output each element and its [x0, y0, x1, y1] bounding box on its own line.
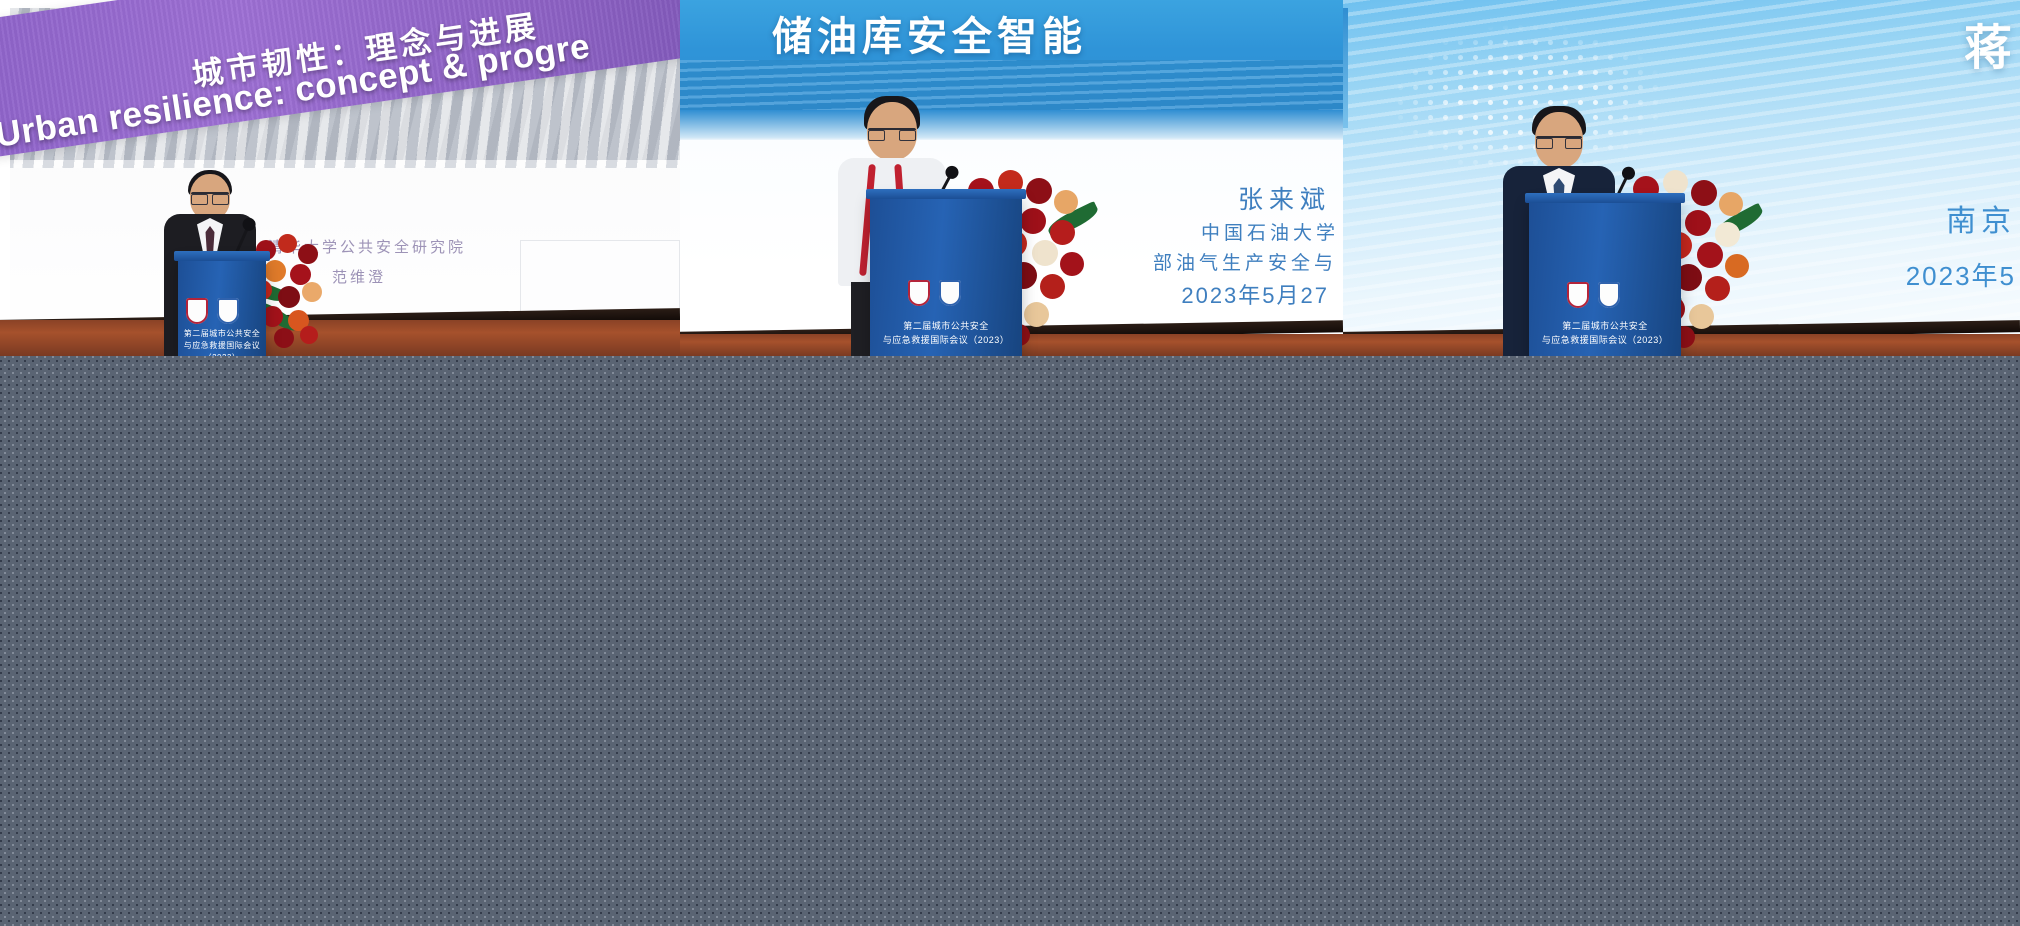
slide-band-fade-2: [680, 110, 1343, 140]
podium-emblem-red-1: [186, 298, 208, 324]
slide-date-3: 2023年5: [1906, 256, 2016, 293]
slide-left-accent-bar-3: [1343, 8, 1348, 128]
podium-line2-2: 与应急救援国际会议（2023）: [870, 334, 1022, 348]
podium-line1-2: 第二届城市公共安全: [870, 320, 1022, 334]
podium-1: 第二届城市公共安全 与应急救援国际会议（2023）: [178, 258, 266, 356]
podium-emblem-red-3: [1567, 282, 1589, 308]
photo-panel-3[interactable]: 蒋 南京 2023年5: [1343, 0, 2020, 356]
presentation-screen-1: 清華大學 Institute of Public Safety Research…: [10, 8, 680, 356]
podium-line2-3: 与应急救援国际会议（2023）: [1529, 334, 1681, 348]
podium-3: 第二届城市公共安全 与应急救援国际会议（2023）: [1529, 200, 1681, 356]
podium-emblem-red-2: [908, 280, 930, 306]
photo-panel-1[interactable]: 清華大學 Institute of Public Safety Research…: [0, 0, 680, 356]
slide-org-line1-2: 中国石油大学: [1201, 218, 1339, 245]
podium-emblem-blue-3: [1598, 282, 1620, 308]
slide-title-cn-2: 储油库安全智能: [772, 4, 1087, 62]
slide-speaker-2: 张来斌: [1238, 180, 1331, 216]
slide-speaker-3: 蒋: [1964, 8, 2012, 78]
stage-floor-1: [0, 320, 680, 356]
podium-2: 第二届城市公共安全 与应急救援国际会议（2023）: [870, 196, 1022, 356]
podium-line1-1: 第二届城市公共安全: [178, 328, 266, 340]
photo-panel-2[interactable]: 储油库安全智能 张来斌 中国石油大学 部油气生产安全与 2023年5月27: [680, 0, 1343, 356]
slide-org-3: 南京: [1946, 196, 2016, 240]
slide-org-line2-2: 部油气生产安全与: [1153, 248, 1337, 275]
podium-line1-3: 第二届城市公共安全: [1529, 320, 1681, 334]
podium-line2-1: 与应急救援国际会议（2023）: [178, 340, 266, 356]
slide-date-2: 2023年5月27: [1181, 278, 1329, 310]
photo-gallery-strip: 清華大學 Institute of Public Safety Research…: [0, 0, 2020, 356]
page-background-area: [0, 356, 2020, 926]
podium-emblem-blue-2: [939, 280, 961, 306]
podium-emblem-blue-1: [217, 298, 239, 324]
slide-speaker-1: 范维澄: [332, 266, 386, 287]
